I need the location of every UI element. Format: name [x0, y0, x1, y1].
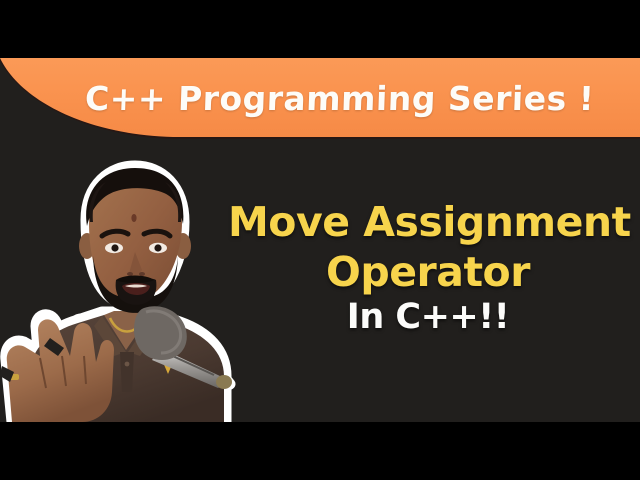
forehead-mark	[131, 214, 136, 222]
presenter-figure	[0, 160, 258, 422]
microphone-mount	[216, 375, 232, 389]
title-line-3: In C++!!	[228, 299, 628, 337]
video-frame: C++ Programming Series ! Move Assignment…	[0, 0, 640, 480]
pupil-right	[154, 244, 161, 251]
title-line-2: Operator	[228, 250, 628, 294]
shirt-placket	[120, 352, 134, 392]
nostril-left	[127, 272, 133, 276]
letterbox-top	[0, 0, 640, 58]
banner-shape	[0, 58, 640, 137]
nostril-right	[139, 272, 145, 276]
header-banner	[0, 58, 640, 138]
title-block: Move Assignment Operator In C++!!	[228, 200, 628, 336]
pupil-left	[111, 244, 118, 251]
thumbnail-content-area: C++ Programming Series ! Move Assignment…	[0, 58, 640, 422]
shirt-button	[125, 362, 130, 367]
letterbox-bottom	[0, 422, 640, 480]
title-line-1: Move Assignment	[228, 200, 628, 244]
